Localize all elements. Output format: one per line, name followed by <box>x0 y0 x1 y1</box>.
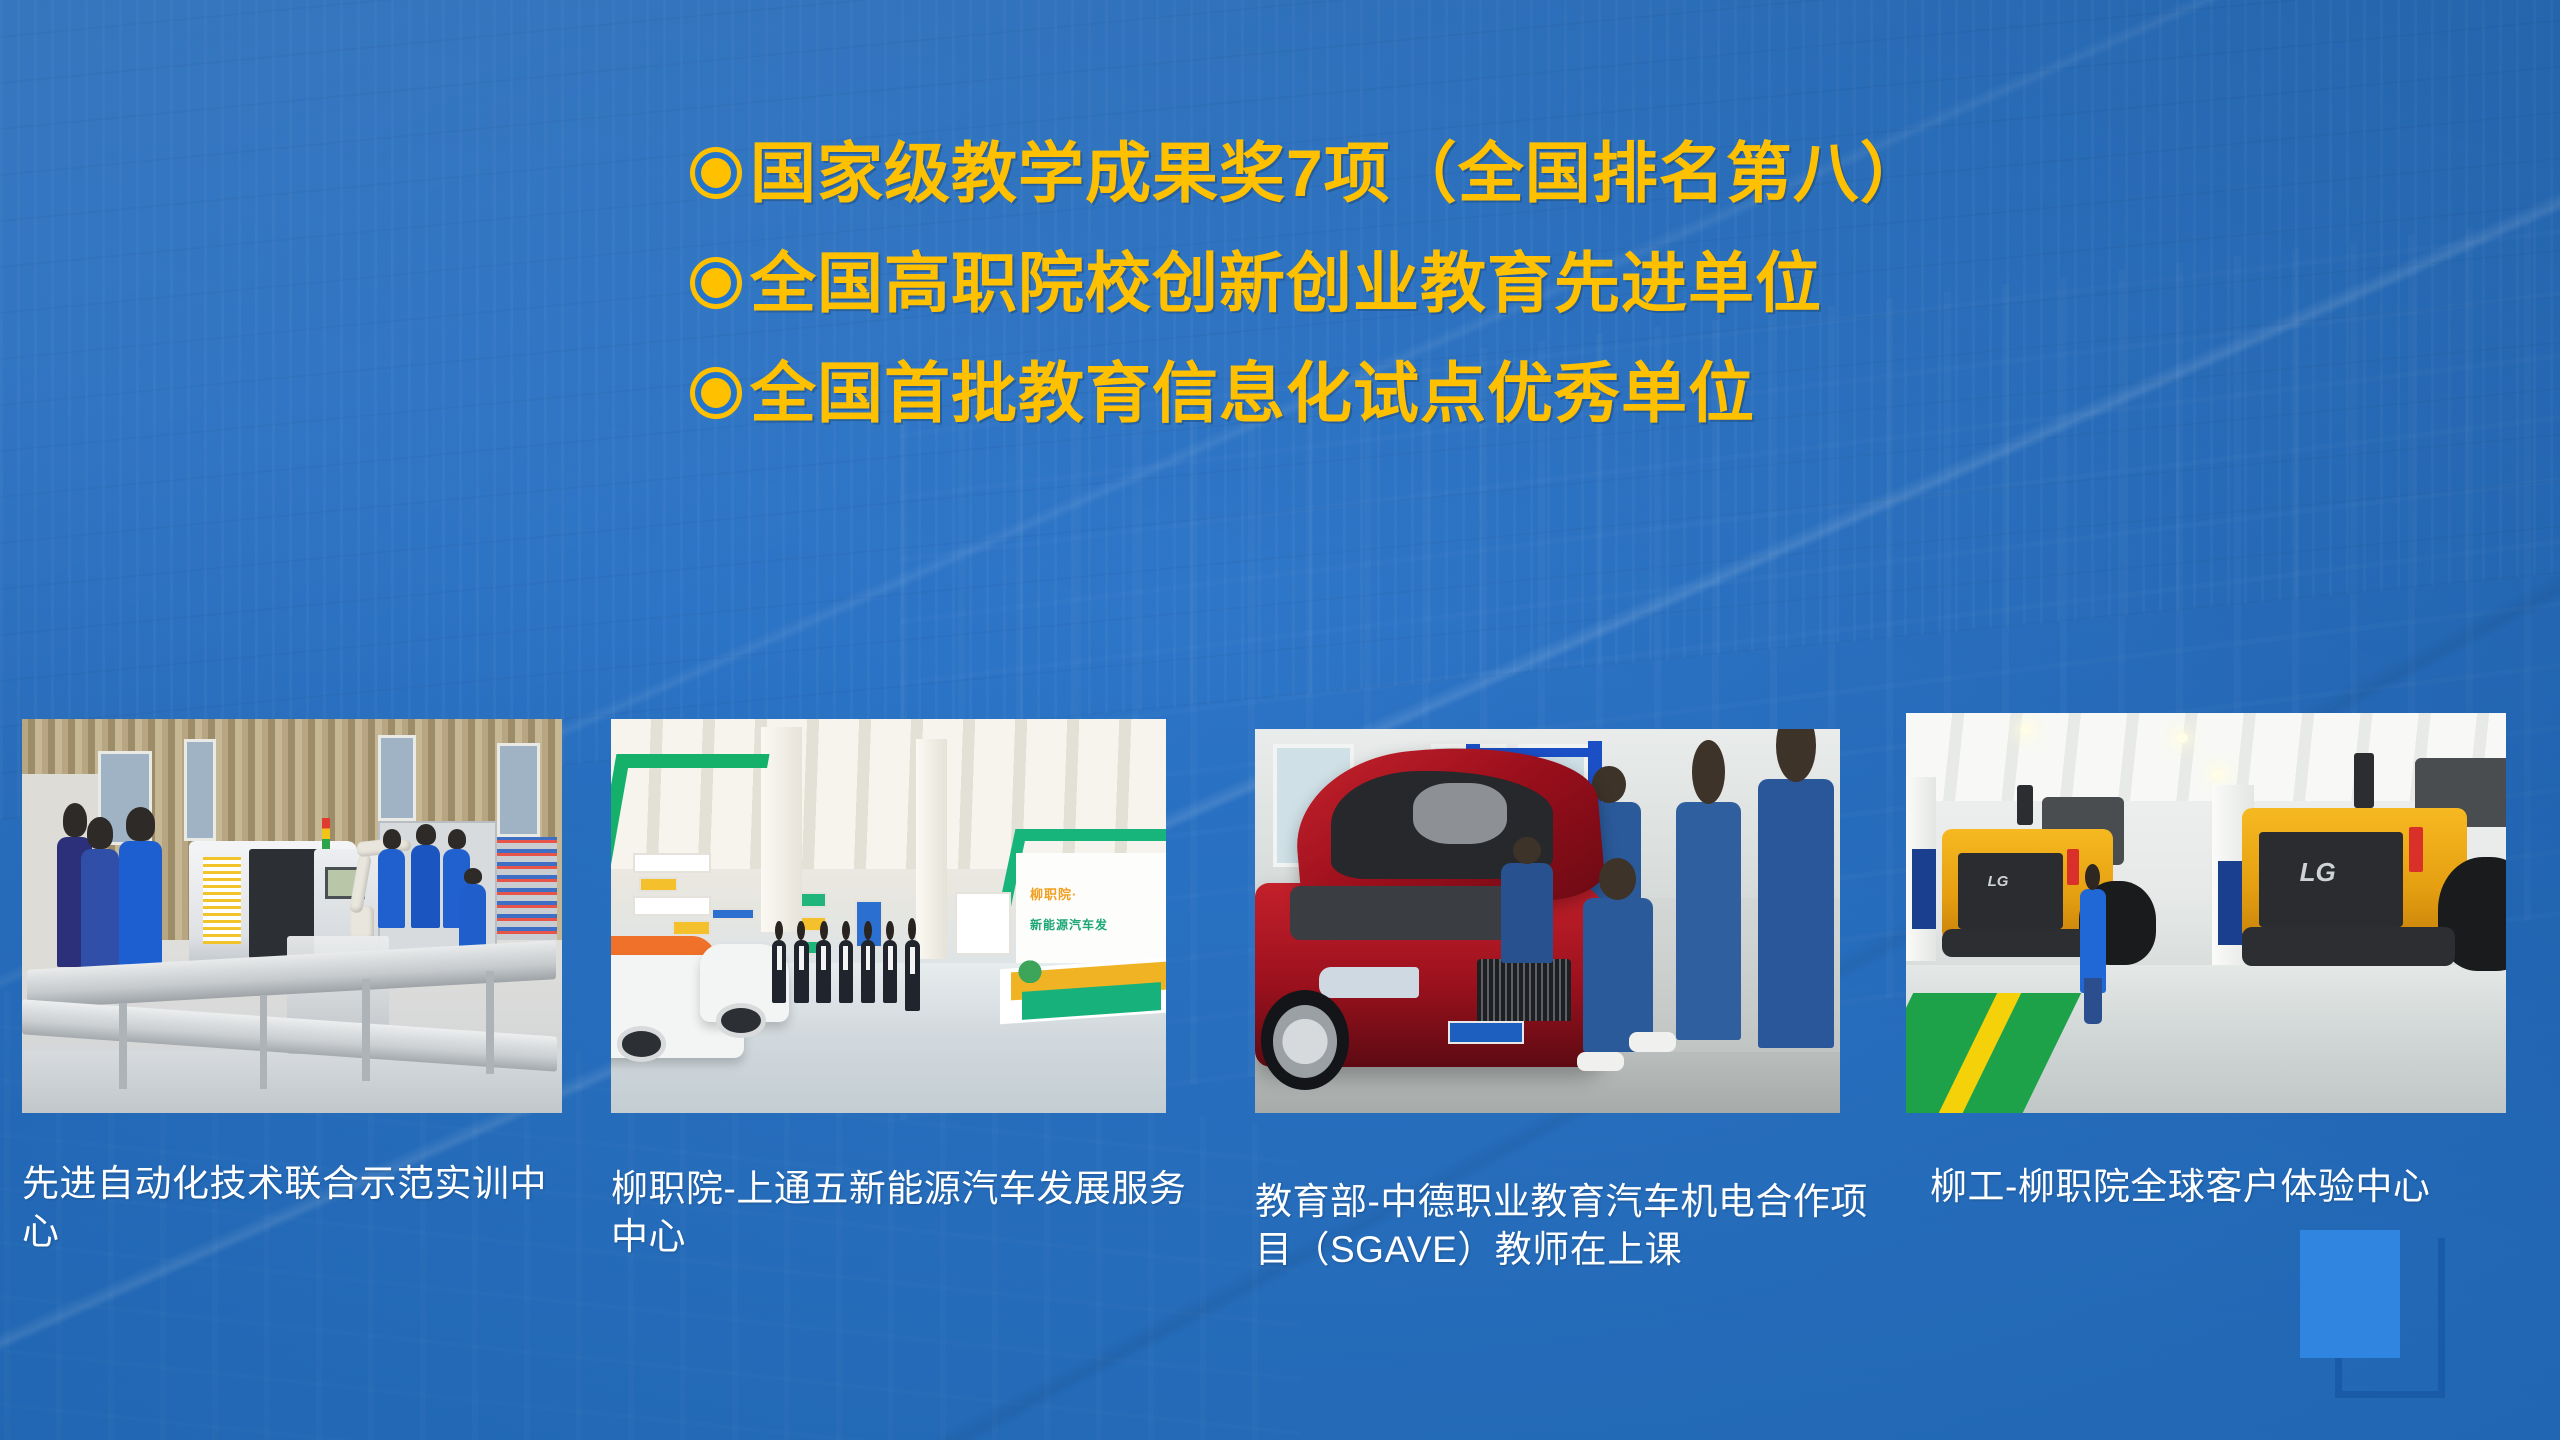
photo-caption-3: 教育部-中德职业教育汽车机电合作项目（SGAVE）教师在上课 <box>1255 1178 1875 1274</box>
showroom-board-line2: 新能源汽车发 <box>1030 916 1108 933</box>
photo-strip: 先进自动化技术联合示范实训中心 柳职院· 新能源汽车发 <box>0 0 2560 1440</box>
slide-root: 国家级教学成果奖7项（全国排名第八） 全国高职院校创新创业教育先进单位 全国首批… <box>0 0 2560 1440</box>
photo-caption-1: 先进自动化技术联合示范实训中心 <box>22 1160 577 1256</box>
photo-thumbnail-nev-service-center: 柳职院· 新能源汽车发 <box>611 719 1166 1113</box>
photo-caption-4: 柳工-柳职院全球客户体验中心 <box>1930 1163 2550 1211</box>
photo-thumbnail-liugong-experience-center: LG LG <box>1906 713 2506 1113</box>
corner-bracket-decoration <box>2300 1238 2470 1423</box>
bracket-filled-shape <box>2300 1230 2400 1358</box>
photo-caption-2: 柳职院-上通五新能源汽车发展服务中心 <box>611 1165 1191 1261</box>
photo-thumbnail-sgave-class <box>1255 729 1840 1113</box>
showroom-board-line1: 柳职院· <box>1030 884 1077 903</box>
photo-thumbnail-automation-training-center <box>22 719 562 1113</box>
